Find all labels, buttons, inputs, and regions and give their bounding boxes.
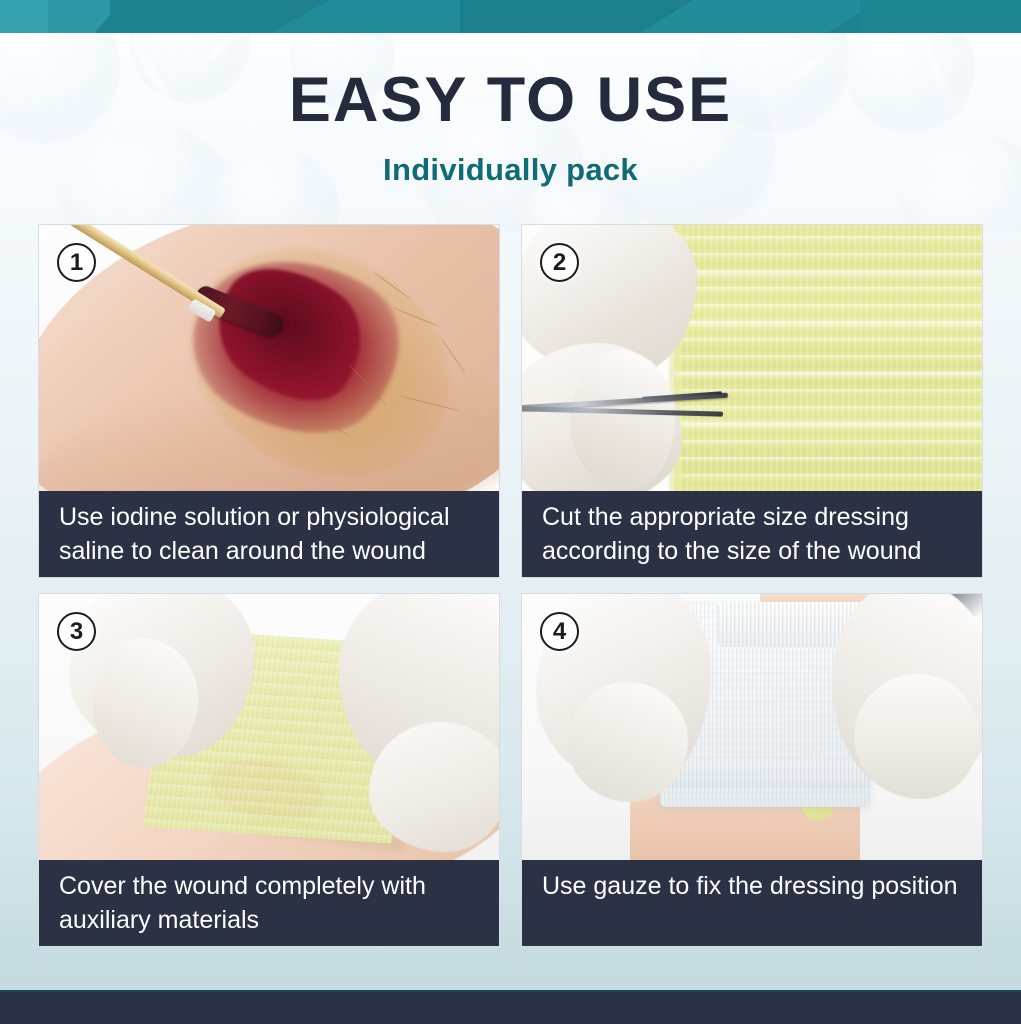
- step-number-badge-3: 3: [57, 612, 96, 651]
- step-3-caption-line2: auxiliary materials: [59, 904, 426, 938]
- step-3-photo: 3: [39, 594, 499, 860]
- step-1-photo: 1: [39, 225, 499, 491]
- gloved-thumb: [570, 350, 675, 490]
- header-titles: EASY TO USE Individually pack: [0, 33, 1021, 223]
- gauze-bandage-edge: [660, 762, 870, 788]
- step-1-caption-line1: Use iodine solution or physiological: [59, 501, 450, 535]
- step-1-caption-line2: saline to clean around the wound: [59, 535, 450, 569]
- gloved-fingers-right: [854, 674, 979, 799]
- top-bar-facet: [460, 0, 680, 33]
- step-number-badge-4: 4: [540, 612, 579, 651]
- gloved-fingers-left: [568, 682, 688, 802]
- top-bar-facet: [110, 0, 290, 33]
- step-1-caption: Use iodine solution or physiological sal…: [39, 491, 499, 577]
- top-accent-bar: [0, 0, 1021, 33]
- step-4-caption: Use gauze to fix the dressing position: [522, 860, 982, 946]
- instruction-infographic: EASY TO USE Individually pack 1: [0, 0, 1021, 1024]
- bottom-accent-bar: [0, 990, 1021, 1024]
- step-number-badge-1: 1: [57, 243, 96, 282]
- step-2-caption-line2: according to the size of the wound: [542, 535, 921, 569]
- step-card-3: 3 Cover the wound completely with auxili…: [38, 593, 500, 947]
- step-2-photo: 2: [522, 225, 982, 491]
- top-bar-facet: [270, 0, 470, 33]
- step-4-caption-line1: Use gauze to fix the dressing position: [542, 870, 958, 904]
- top-bar-facet: [860, 0, 1021, 33]
- step-number-badge-2: 2: [540, 243, 579, 282]
- step-card-2: 2 Cut the appropriate size dressing acco…: [521, 224, 983, 578]
- page-subtitle: Individually pack: [383, 152, 638, 188]
- step-2-caption-line1: Cut the appropriate size dressing: [542, 501, 921, 535]
- gauze-sheet: [674, 225, 982, 491]
- step-3-caption: Cover the wound completely with auxiliar…: [39, 860, 499, 946]
- page-title: EASY TO USE: [289, 69, 732, 132]
- step-2-caption: Cut the appropriate size dressing accord…: [522, 491, 982, 577]
- step-3-caption-line1: Cover the wound completely with: [59, 870, 426, 904]
- step-card-4: 4 Use gauze to fix the dressing position: [521, 593, 983, 947]
- step-4-photo: 4: [522, 594, 982, 860]
- step-card-1: 1 Use iodine solution or physiological s…: [38, 224, 500, 578]
- steps-grid: 1 Use iodine solution or physiological s…: [38, 224, 983, 947]
